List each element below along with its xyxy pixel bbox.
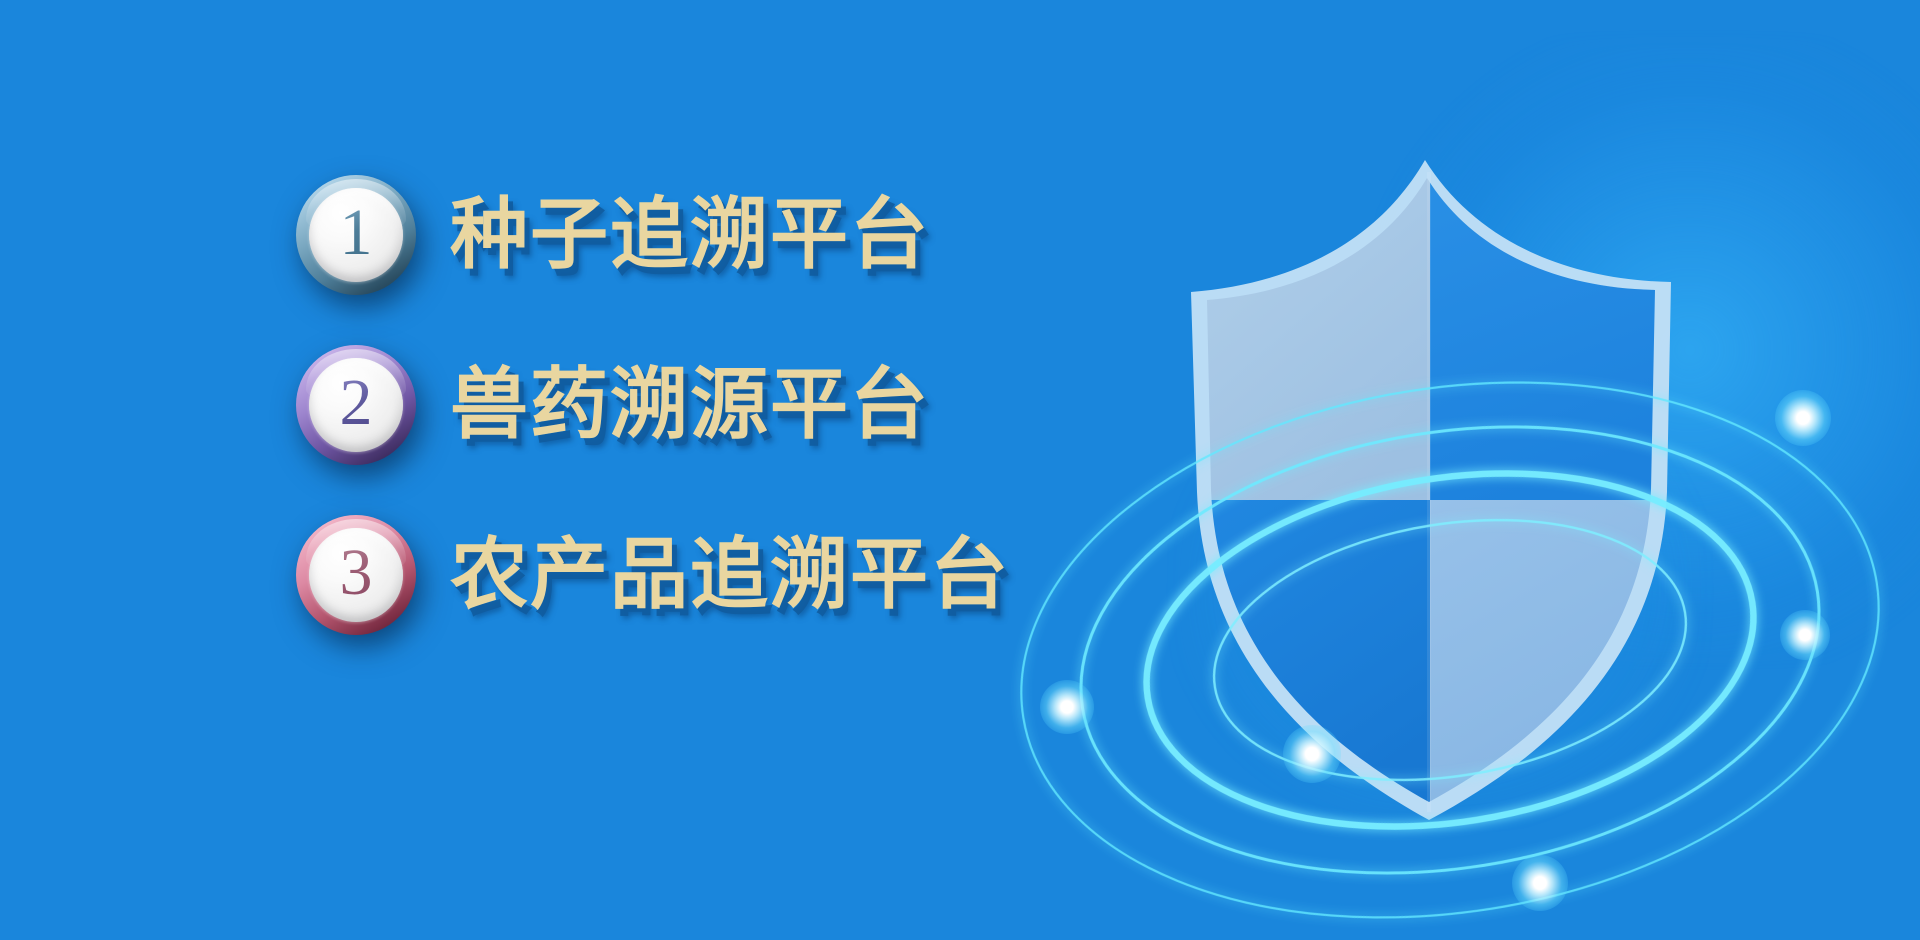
spark-dot-icon — [1283, 725, 1341, 783]
platform-list: 1 种子追溯平台 2 兽药溯源平台 3 农产品追溯平台 — [296, 150, 1216, 660]
shield-icon — [1155, 160, 1705, 810]
shield-quadrant-bottom-right — [1430, 500, 1705, 820]
background-glow — [1380, 40, 1920, 660]
spark-dot-icon — [1780, 610, 1830, 660]
shield-inner-shade — [1430, 140, 1655, 290]
background-glow-secondary — [1180, 360, 1700, 820]
badge-violet[interactable]: 2 — [296, 345, 416, 465]
badge-number: 1 — [340, 200, 373, 270]
badge-blue[interactable]: 1 — [296, 175, 416, 295]
spark-dot-icon — [1775, 390, 1831, 446]
list-item[interactable]: 3 农产品追溯平台 — [296, 490, 1216, 660]
badge-number: 3 — [340, 540, 373, 610]
badge-number: 2 — [340, 370, 373, 440]
shield-seam — [1427, 172, 1431, 812]
shield-body — [1155, 140, 1705, 820]
orbit-ring-inner — [1195, 488, 1705, 811]
shield-rim — [1191, 160, 1671, 820]
platform-label: 兽药溯源平台 — [450, 366, 930, 444]
shield-quadrant-top-right — [1430, 160, 1705, 500]
badge-rose[interactable]: 3 — [296, 515, 416, 635]
spark-dot-icon — [1512, 855, 1568, 911]
banner-root: 1 种子追溯平台 2 兽药溯源平台 3 农产品追溯平台 — [0, 0, 1920, 940]
orbit-ring-2 — [1121, 432, 1779, 868]
list-item[interactable]: 1 种子追溯平台 — [296, 150, 1216, 320]
platform-label: 农产品追溯平台 — [450, 536, 1010, 614]
spark-dot-icon — [1040, 680, 1094, 734]
list-item[interactable]: 2 兽药溯源平台 — [296, 320, 1216, 490]
platform-label: 种子追溯平台 — [450, 196, 930, 274]
